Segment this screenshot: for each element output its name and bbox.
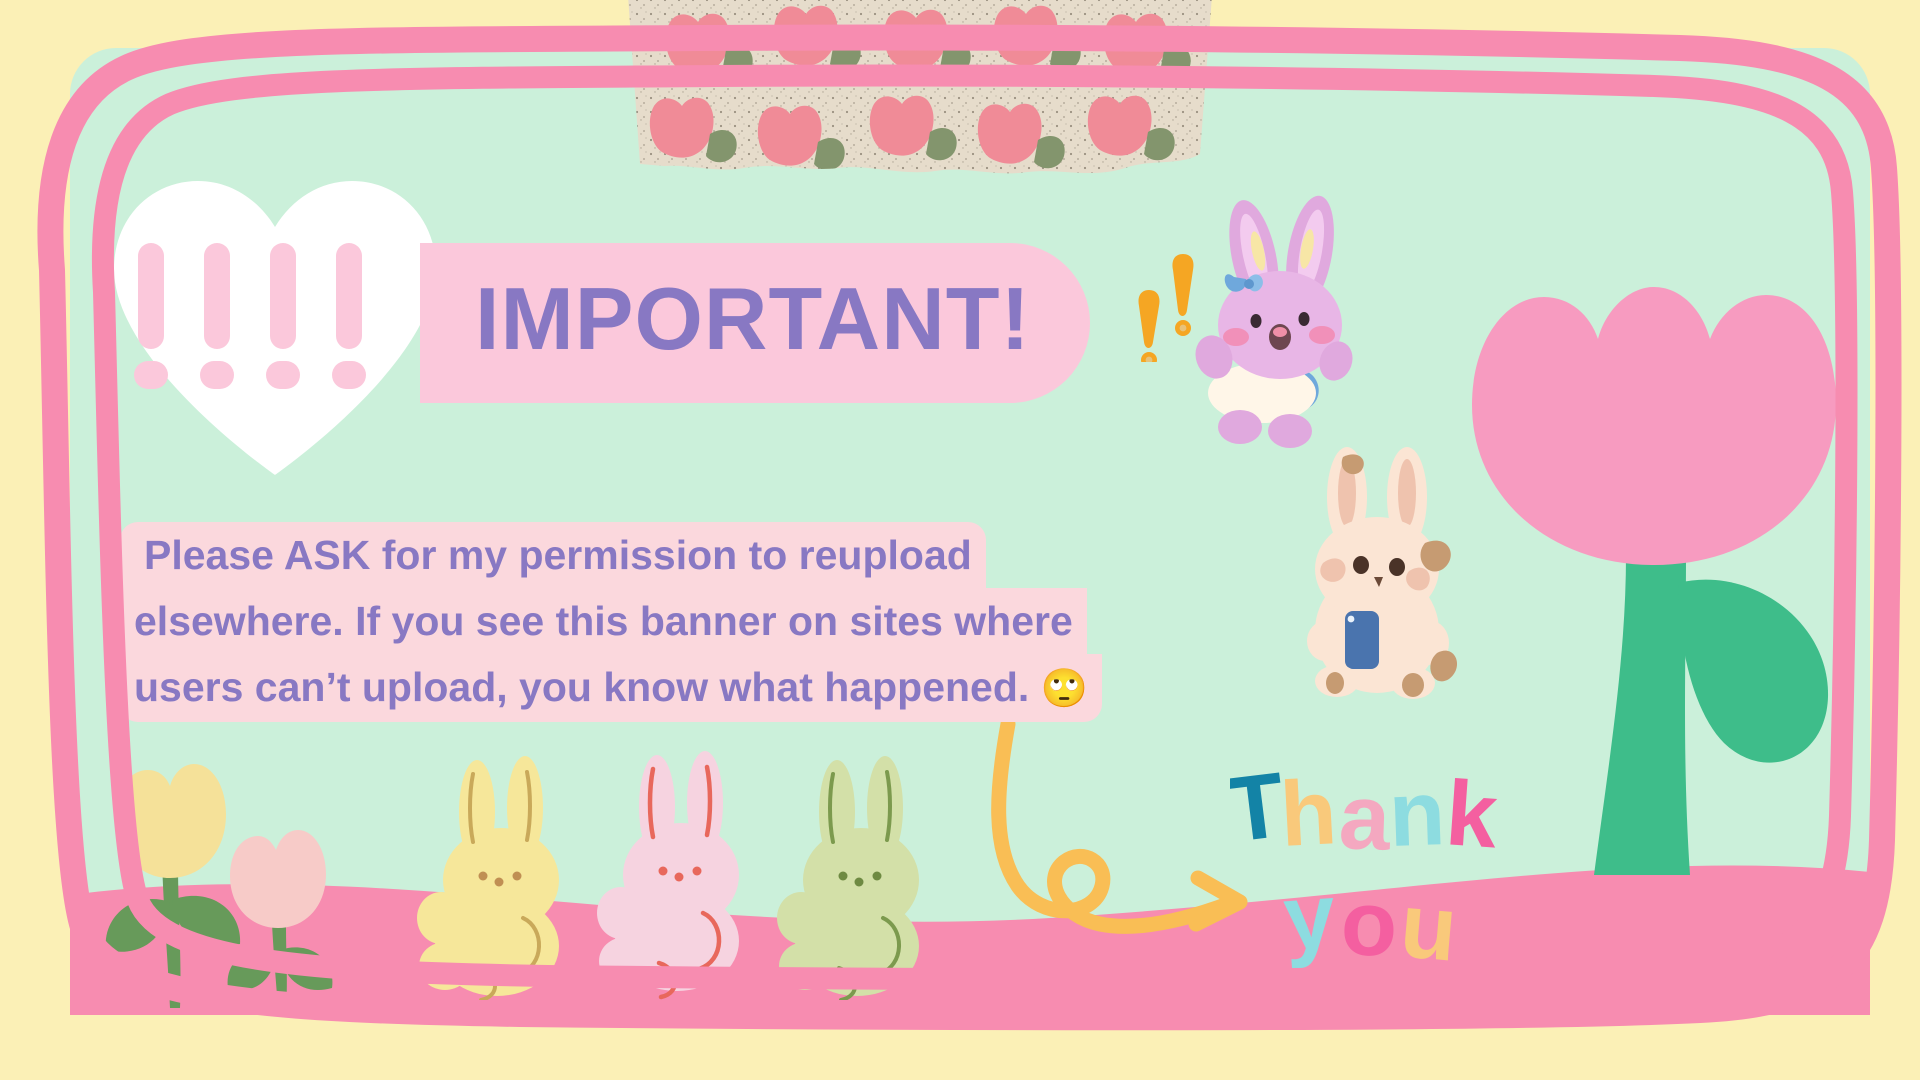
body-text-line-2: elsewhere. If you see this banner on sit… [120, 588, 1087, 654]
thankyou-letter-o: o [1339, 872, 1399, 970]
pink-candy-bunny [595, 745, 765, 1000]
washi-tape-tulips [620, 0, 1220, 211]
yellow-tulip [106, 764, 240, 1008]
eye-roll-emoji: 🙄 [1041, 668, 1088, 710]
thank-you-lettering: T h a n k y o u [1230, 760, 1550, 970]
thankyou-letter-n: n [1387, 762, 1447, 866]
body-text-line-1: Please ASK for my permission to reupload [120, 522, 986, 588]
yellow-candy-bunny [415, 750, 585, 1000]
thankyou-letter-u: u [1396, 874, 1461, 970]
body-text-line-3: users can’t upload, you know what happen… [120, 654, 1102, 722]
important-headline-text: IMPORTANT! [475, 268, 1031, 370]
orange-loop-arrow [990, 720, 1270, 940]
body-text-block: Please ASK for my permission to reupload… [120, 522, 1160, 722]
pink-tulip [228, 830, 333, 1008]
thankyou-letter-y: y [1280, 865, 1338, 970]
banner-root: IMPORTANT! [0, 0, 1920, 1080]
thankyou-letter-h: h [1278, 761, 1339, 866]
white-heart-with-exclamations [100, 165, 450, 485]
body-text-line-3-text: users can’t upload, you know what happen… [134, 664, 1041, 710]
thankyou-letter-k: k [1443, 762, 1502, 867]
thankyou-letter-a: a [1337, 766, 1393, 870]
small-tulips-group [100, 760, 370, 1010]
flying-purple-bunny-sticker [1170, 195, 1400, 470]
green-candy-bunny [775, 750, 945, 1000]
